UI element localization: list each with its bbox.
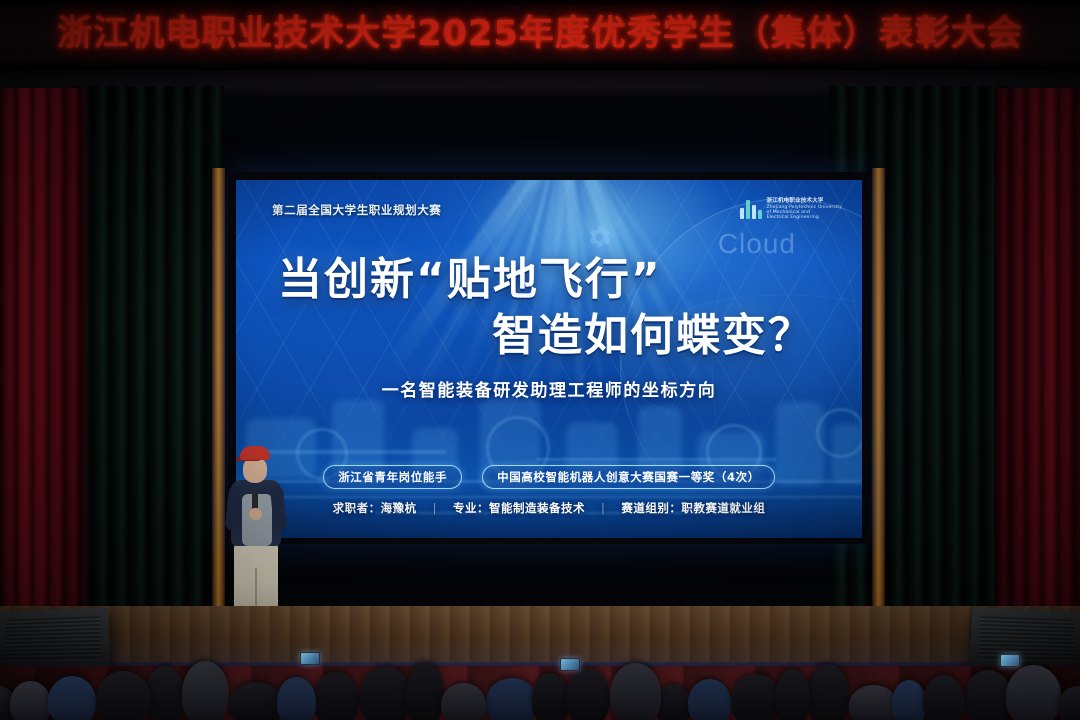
logo-mark-icon: [740, 199, 762, 219]
stage-curtain-red-left: [0, 88, 86, 633]
audience-head: [923, 675, 964, 720]
audience-head: [96, 671, 151, 720]
info-item: 求职者：海豫杭: [333, 500, 417, 516]
audience-head: [486, 678, 538, 720]
stage-photo-scene: 浙江机电职业技术大学2025年度优秀学生（集体）表彰大会 第二届全国大学生职业规…: [0, 0, 1080, 720]
audience-head: [182, 661, 229, 720]
audience-head: [441, 683, 486, 720]
audience-phone-screen: [1000, 654, 1020, 667]
presenter-red-cap: [240, 446, 270, 460]
info-label: 求职者：: [333, 501, 381, 515]
audience-head: [48, 676, 96, 720]
audience-head: [145, 666, 185, 720]
logo-cn-name: 浙江机电职业技术大学: [767, 198, 842, 205]
award-badge: 浙江省青年岗位能手: [323, 465, 462, 489]
audience-head: [964, 670, 1012, 720]
gear-icon: [584, 222, 614, 252]
slide-subtitle: 一名智能装备研发助理工程师的坐标方向: [236, 376, 862, 401]
audience-head: [610, 663, 661, 720]
audience-head: [10, 681, 51, 720]
audience-phone-screen: [300, 652, 320, 665]
audience-head: [229, 682, 283, 720]
audience-head: [532, 673, 569, 720]
slide-title: 当创新“贴地飞行” 智造如何蝶变？: [236, 252, 862, 364]
audience-head: [359, 667, 412, 720]
info-item: 赛道组别：职教赛道就业组: [621, 500, 765, 516]
audience-head: [849, 685, 898, 720]
info-item: 专业：智能制造装备技术: [453, 500, 585, 516]
audience-head: [775, 669, 810, 720]
slide-title-line-2: 智造如何蝶变？: [270, 308, 828, 364]
stage-curtain-dark-left: [72, 86, 224, 638]
audience-head: [277, 677, 316, 720]
candidate-info-row: 求职者：海豫杭 | 专业：智能制造装备技术 | 赛道组别：职教赛道就业组: [236, 500, 862, 516]
info-value: 智能制造装备技术: [489, 501, 585, 515]
logo-en-line-3: Electrical Engineering: [767, 215, 842, 220]
audience-phone-screen: [560, 658, 580, 671]
audience-head: [566, 668, 610, 720]
led-banner: 浙江机电职业技术大学2025年度优秀学生（集体）表彰大会: [0, 0, 1080, 70]
slide-title-line-1: 当创新“贴地飞行”: [270, 252, 828, 308]
audience-head: [406, 662, 444, 720]
info-label: 赛道组别：: [621, 501, 681, 515]
info-value: 海豫杭: [381, 501, 417, 515]
competition-label: 第二届全国大学生职业规划大赛: [272, 202, 441, 218]
audience-head: [1006, 665, 1061, 720]
info-value: 职教赛道就业组: [681, 501, 765, 515]
university-logo: 浙江机电职业技术大学 Zhejiang Polytechnic Universi…: [740, 198, 842, 221]
screen-frame-pillar-right: [872, 168, 885, 623]
info-separator: |: [433, 501, 437, 515]
audience-head: [731, 674, 781, 720]
award-badge-row: 浙江省青年岗位能手 中国高校智能机器人创意大赛国赛一等奖（4次）: [236, 465, 862, 489]
presentation-slide: 第二届全国大学生职业规划大赛 浙江机电职业技术大学 Zhejiang Polyt…: [236, 180, 862, 538]
led-banner-text: 浙江机电职业技术大学2025年度优秀学生（集体）表彰大会: [0, 11, 1080, 57]
audience-head: [807, 664, 849, 720]
audience-head: [313, 672, 359, 720]
logo-text: 浙江机电职业技术大学 Zhejiang Polytechnic Universi…: [767, 198, 842, 221]
info-label: 专业：: [453, 501, 489, 515]
audience-area: [0, 648, 1080, 720]
audience-head: [892, 680, 926, 720]
audience-head: [688, 679, 731, 720]
stage-curtain-red-right: [994, 88, 1080, 633]
award-badge: 中国高校智能机器人创意大赛国赛一等奖（4次）: [482, 465, 775, 489]
presenter-hand: [249, 508, 262, 520]
info-separator: |: [601, 501, 605, 515]
